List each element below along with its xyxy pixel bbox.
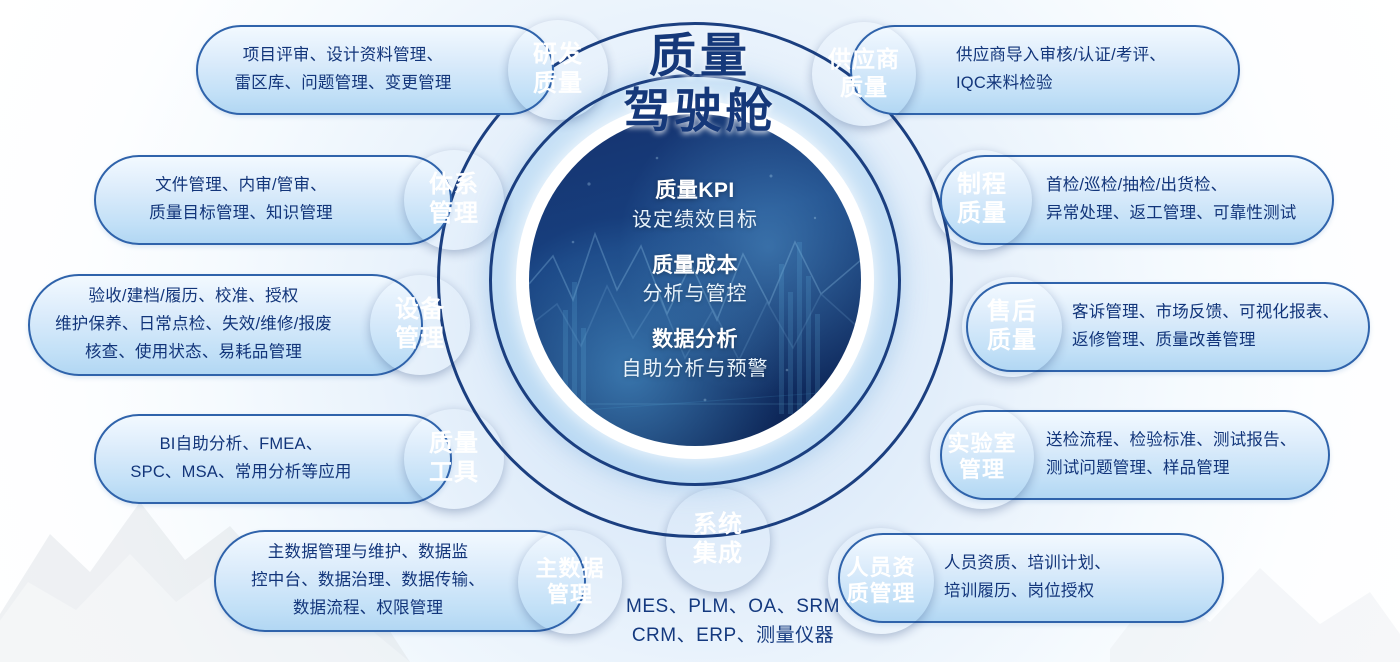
hub-after-sales-quality[interactable]: 售后 质量: [962, 277, 1062, 377]
core-kpi-title: 质量KPI: [632, 177, 758, 205]
hub-lab-management[interactable]: 实验室 管理: [930, 405, 1034, 509]
module-desc-quality-tools: BI自助分析、FMEA、 SPC、MSA、常用分析等应用: [96, 431, 450, 486]
core-cost-subtitle: 分析与管控: [643, 280, 748, 308]
module-card-equipment-management[interactable]: 验收/建档/履历、校准、授权 维护保养、日常点检、失效/维修/报废 核查、使用状…: [28, 274, 423, 376]
hub-quality-tools[interactable]: 质量 工具: [404, 409, 504, 509]
module-desc-equipment-management: 验收/建档/履历、校准、授权 维护保养、日常点检、失效/维修/报废 核查、使用状…: [30, 283, 421, 366]
page-title: 质量 驾驶舱: [560, 28, 840, 139]
core-group-analysis: 数据分析 自助分析与预警: [622, 326, 769, 382]
module-desc-system-management: 文件管理、内审/管审、 质量目标管理、知识管理: [96, 172, 450, 227]
core-circle: 质量KPI 设定绩效目标 质量成本 分析与管控 数据分析 自助分析与预警: [529, 114, 861, 446]
hub-equipment-management[interactable]: 设备 管理: [370, 275, 470, 375]
module-card-quality-tools[interactable]: BI自助分析、FMEA、 SPC、MSA、常用分析等应用: [94, 414, 452, 504]
hub-system-management[interactable]: 体系 管理: [404, 150, 504, 250]
diagram-canvas: 质量KPI 设定绩效目标 质量成本 分析与管控 数据分析 自助分析与预警 质量 …: [0, 0, 1400, 662]
module-card-rd-quality[interactable]: 项目评审、设计资料管理、 雷区库、问题管理、变更管理: [196, 25, 554, 115]
module-card-system-management[interactable]: 文件管理、内审/管审、 质量目标管理、知识管理: [94, 155, 452, 245]
core-kpi-subtitle: 设定绩效目标: [632, 206, 758, 234]
page-title-line1: 质量: [560, 28, 840, 83]
page-title-line2: 驾驶舱: [560, 83, 840, 138]
system-integration-desc: MES、PLM、OA、SRM CRM、ERP、测量仪器: [588, 592, 878, 651]
core-analysis-subtitle: 自助分析与预警: [622, 355, 769, 383]
core-group-cost: 质量成本 分析与管控: [643, 252, 748, 308]
core-analysis-title: 数据分析: [622, 326, 769, 354]
core-group-kpi: 质量KPI 设定绩效目标: [632, 177, 758, 233]
module-desc-rd-quality: 项目评审、设计资料管理、 雷区库、问题管理、变更管理: [198, 42, 552, 97]
hub-process-quality[interactable]: 制程 质量: [932, 150, 1032, 250]
hub-system-integration[interactable]: 系统 集成: [666, 488, 770, 592]
core-cost-title: 质量成本: [643, 252, 748, 280]
